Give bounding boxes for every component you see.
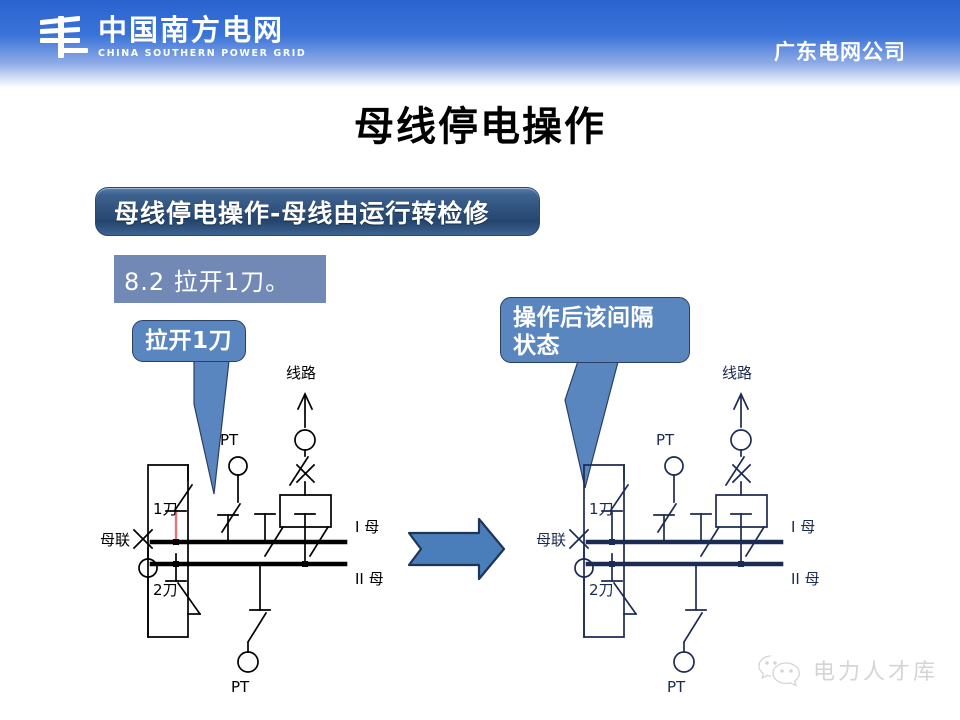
transition-arrow-icon [407,517,506,581]
label-bus-2: II 母 [355,570,384,588]
step-box: 8.2 拉开1刀。 [114,255,326,303]
section-banner: 母线停电操作-母线由运行转检修 [95,187,540,236]
watermark: 电力人才库 [757,652,938,688]
csg-logo-mark-icon [40,14,88,60]
logo-english-name: CHINA SOUTHERN POWER GRID [98,48,306,59]
label-pt-bottom: PT [667,678,686,696]
label-pt-top: PT [220,431,239,449]
wechat-icon [757,652,803,688]
label-bus-1: I 母 [791,518,815,536]
circuit-diagram-after: 线路 PT PT 母联 1刀 2刀 I 母 II 母 [536,352,836,702]
label-switch-2: 2刀 [153,581,178,599]
csg-logo: 中国南方电网 CHINA SOUTHERN POWER GRID [40,14,306,60]
slide-header: 中国南方电网 CHINA SOUTHERN POWER GRID 广东电网公司 [0,0,960,88]
label-line: 线路 [722,364,752,382]
label-bus-coupler: 母联 [536,531,566,549]
label-bus-1: I 母 [355,518,379,536]
slide: 中国南方电网 CHINA SOUTHERN POWER GRID 广东电网公司 … [0,0,960,720]
section-banner-label: 母线停电操作-母线由运行转检修 [114,194,489,230]
label-bus-coupler: 母联 [100,531,130,549]
logo-chinese-name: 中国南方电网 [98,15,306,45]
label-switch-2: 2刀 [589,581,614,599]
step-box-label: 8.2 拉开1刀。 [124,262,290,297]
company-name: 广东电网公司 [774,36,906,66]
label-line: 线路 [286,364,316,382]
label-bus-2: II 母 [791,570,820,588]
label-switch-1: 1刀 [589,500,614,518]
label-switch-1: 1刀 [153,500,178,518]
circuit-diagram-before: 线路 PT PT 母联 1刀 2刀 I 母 II 母 [100,352,400,702]
label-pt-bottom: PT [231,678,250,696]
page-title: 母线停电操作 [0,94,960,152]
label-pt-top: PT [656,431,675,449]
watermark-label: 电力人才库 [813,654,938,686]
